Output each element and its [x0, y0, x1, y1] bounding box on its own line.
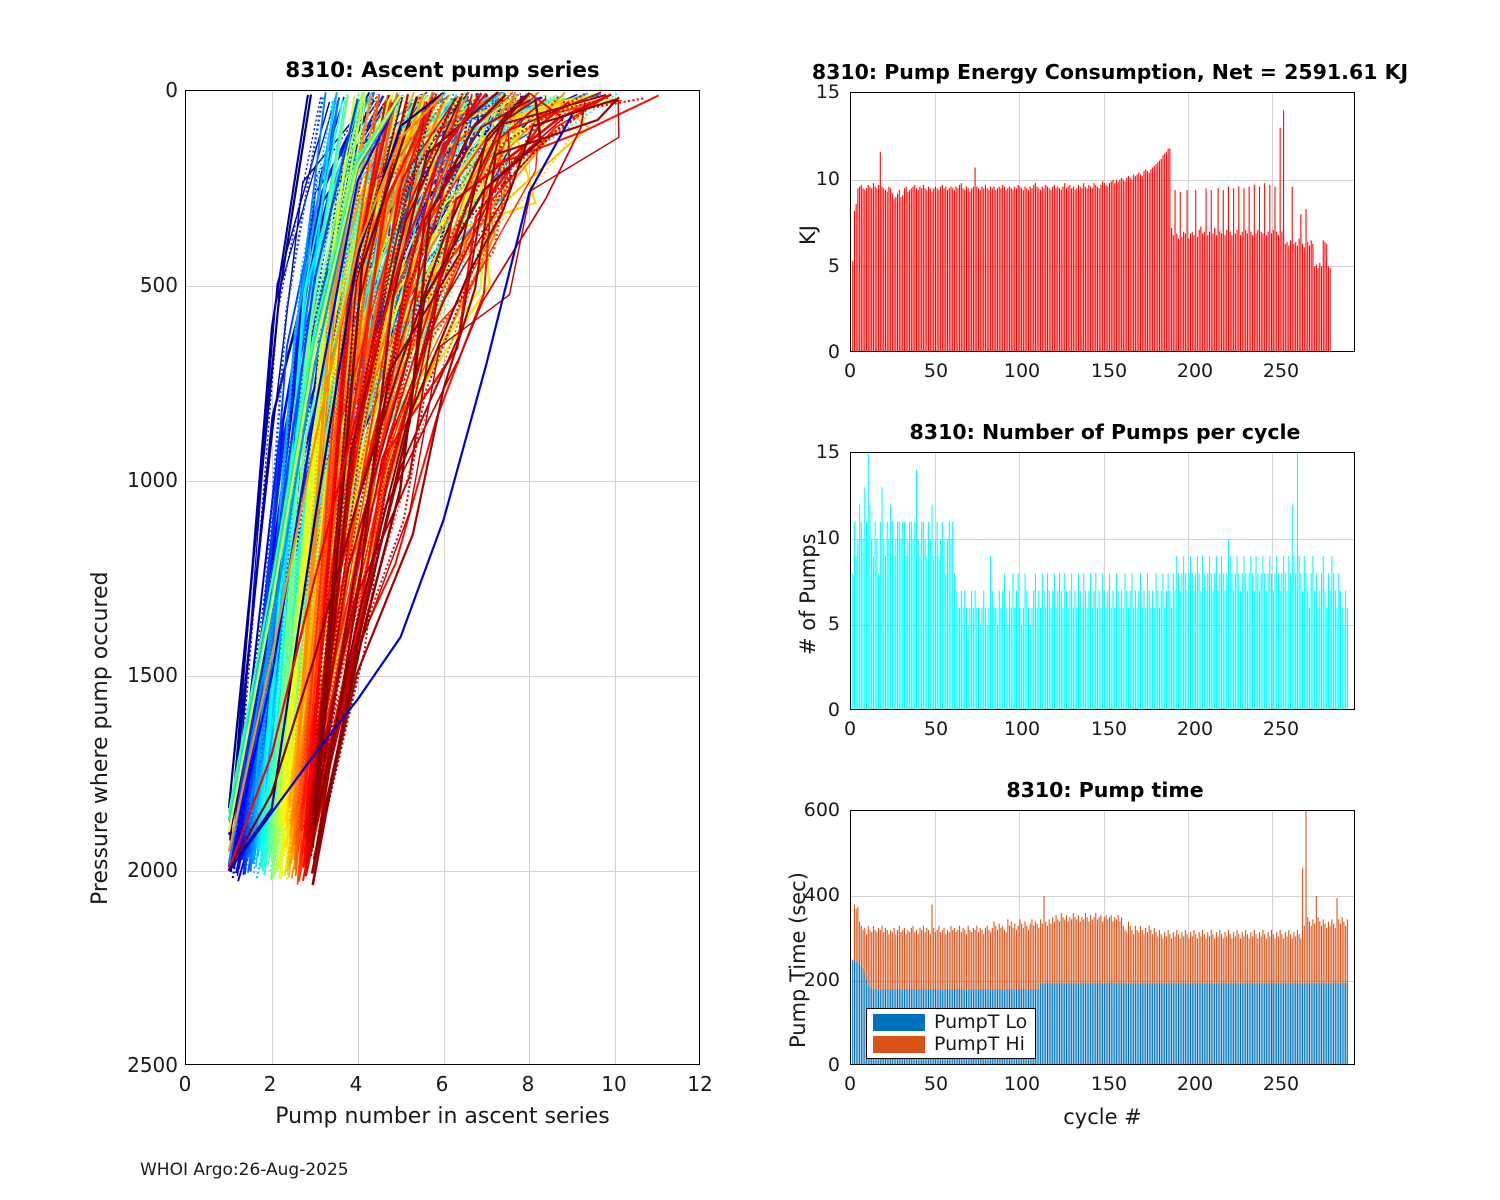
ascent-plot-area [185, 90, 700, 1065]
pumptime-xtick-0: 0 [844, 1073, 856, 1095]
ascent-panel-title: 8310: Ascent pump series [185, 58, 700, 83]
legend-item-pumpt-hi: PumpT Hi [873, 1035, 1027, 1054]
energy-panel-title: 8310: Pump Energy Consumption, Net = 259… [760, 60, 1460, 84]
pumptime-legend: PumpT Lo PumpT Hi [866, 1008, 1036, 1059]
ascent-xtick-2: 2 [264, 1072, 277, 1096]
pumps-xtick-100: 100 [1004, 718, 1040, 740]
ascent-ylabel: Pressure where pump occured [88, 572, 113, 905]
pumps-xtick-150: 150 [1091, 718, 1127, 740]
pumps-ytick-15: 15 [788, 441, 840, 463]
ascent-ytick-0: 0 [120, 78, 178, 102]
footer-credit: WHOI Argo:26-Aug-2025 [140, 1160, 349, 1180]
pumptime-xtick-50: 50 [924, 1073, 948, 1095]
ascent-xtick-12: 12 [687, 1072, 712, 1096]
ascent-xtick-8: 8 [522, 1072, 535, 1096]
energy-bars-svg [851, 93, 1355, 352]
ascent-ytick-1000: 1000 [120, 468, 178, 492]
pumpt-hi-swatch [873, 1036, 925, 1053]
pumpt-lo-label: PumpT Lo [934, 1013, 1027, 1032]
ascent-ytick-2500: 2500 [120, 1053, 178, 1077]
pumpt-hi-label: PumpT Hi [934, 1035, 1025, 1054]
energy-xtick-100: 100 [1004, 360, 1040, 382]
pumps-xtick-50: 50 [924, 718, 948, 740]
pumptime-xtick-250: 250 [1263, 1073, 1299, 1095]
ascent-xtick-4: 4 [350, 1072, 363, 1096]
energy-xtick-50: 50 [924, 360, 948, 382]
pumpt-lo-swatch [873, 1014, 925, 1031]
pumps-xtick-250: 250 [1263, 718, 1299, 740]
pumps-ytick-0: 0 [788, 699, 840, 721]
pumptime-panel-title: 8310: Pump time [755, 778, 1455, 802]
ascent-ytick-2000: 2000 [120, 858, 178, 882]
pumps-ylabel: # of Pumps [796, 533, 820, 655]
pumps-panel-title: 8310: Number of Pumps per cycle [755, 420, 1455, 444]
energy-ytick-15: 15 [788, 81, 840, 103]
pumptime-xtick-150: 150 [1091, 1073, 1127, 1095]
ascent-series-svg [186, 91, 700, 1065]
pumps-bars-svg [851, 453, 1355, 710]
ascent-xtick-0: 0 [179, 1072, 192, 1096]
energy-xtick-200: 200 [1177, 360, 1213, 382]
pumptime-xtick-100: 100 [1004, 1073, 1040, 1095]
energy-ytick-10: 10 [788, 168, 840, 190]
ascent-xlabel: Pump number in ascent series [185, 1104, 700, 1129]
legend-item-pumpt-lo: PumpT Lo [873, 1013, 1027, 1032]
pumptime-xlabel: cycle # [850, 1105, 1355, 1129]
ascent-ytick-500: 500 [120, 273, 178, 297]
pumps-xtick-0: 0 [844, 718, 856, 740]
ascent-ytick-1500: 1500 [120, 663, 178, 687]
pumps-plot-area [850, 452, 1355, 710]
pumptime-ytick-600: 600 [778, 799, 840, 821]
energy-xtick-250: 250 [1263, 360, 1299, 382]
pumptime-ylabel: Pump Time (sec) [786, 872, 810, 1048]
energy-ytick-0: 0 [788, 341, 840, 363]
energy-xtick-150: 150 [1091, 360, 1127, 382]
energy-plot-area [850, 92, 1355, 352]
energy-xtick-0: 0 [844, 360, 856, 382]
ascent-xtick-10: 10 [601, 1072, 626, 1096]
pumps-xtick-200: 200 [1177, 718, 1213, 740]
energy-ylabel: KJ [796, 225, 820, 245]
pumptime-ytick-0: 0 [778, 1054, 840, 1076]
ascent-xtick-6: 6 [436, 1072, 449, 1096]
pumptime-xtick-200: 200 [1177, 1073, 1213, 1095]
energy-ytick-5: 5 [788, 255, 840, 277]
figure-canvas: 8310: Ascent pump series 0 500 1000 1500… [0, 0, 1500, 1200]
